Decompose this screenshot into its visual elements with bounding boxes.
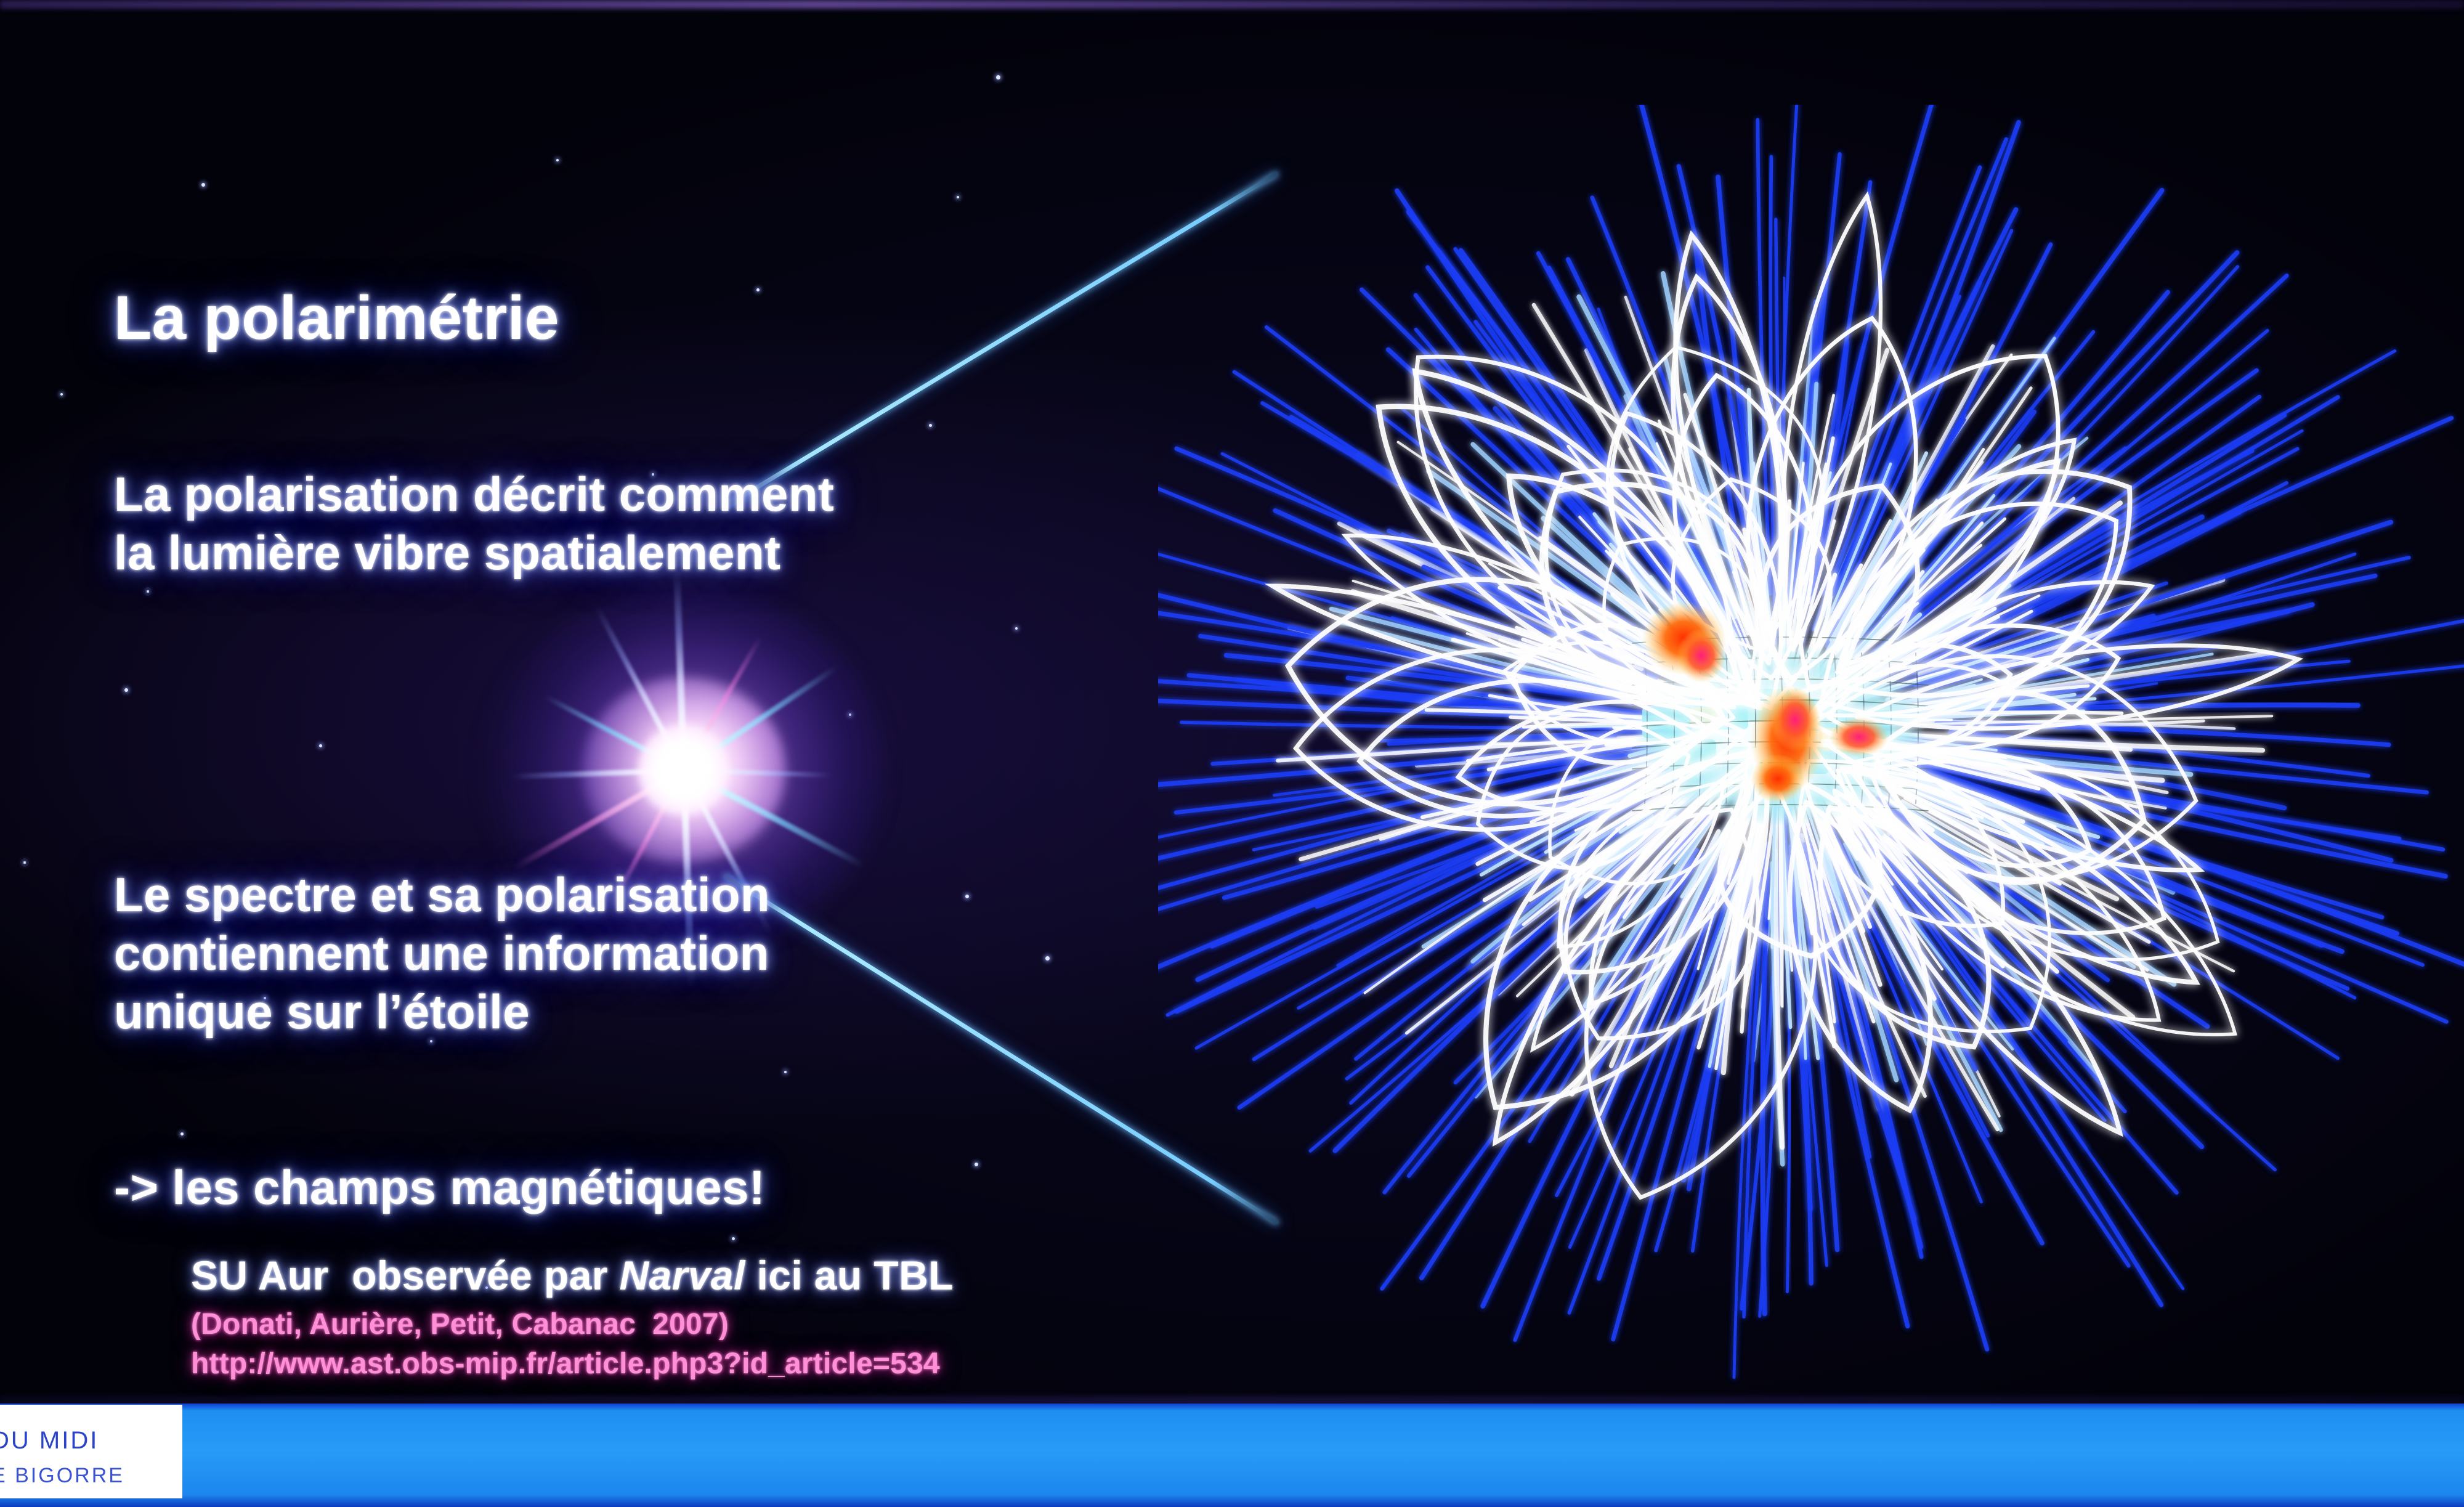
star-point [60, 393, 63, 396]
magnetic-hotspot [1751, 754, 1805, 803]
star-point [201, 183, 205, 187]
credit-url[interactable]: http://www.ast.obs-mip.fr/article.php3?i… [191, 1347, 940, 1381]
star-point [975, 1163, 978, 1166]
credit-reference: (Donati, Aurière, Petit, Cabanac 2007) [191, 1307, 729, 1341]
caption-text-after: ici au TBL [745, 1253, 954, 1298]
magnetic-hotspot [1830, 717, 1889, 757]
figure-caption: SU Aur observée par Narval ici au TBL [191, 1251, 954, 1301]
star-point [1045, 956, 1050, 961]
paragraph-spectrum-information: Le spectre et sa polarisation contiennen… [114, 866, 770, 1041]
star-core [638, 725, 729, 816]
magnetic-hotspot [1770, 688, 1820, 752]
presentation-slide: La polarimétrie La polarisation décrit c… [0, 0, 2464, 1507]
star-point [1015, 627, 1018, 630]
magnetic-hotspot [1677, 628, 1726, 683]
logo-line-1: DU MIDI [0, 1427, 99, 1455]
star-point [732, 1237, 735, 1240]
field-line [1780, 810, 1783, 1005]
paragraph-polarisation-definition: La polarisation décrit comment la lumièr… [114, 465, 834, 582]
star-point [556, 159, 559, 161]
star-point [756, 288, 760, 291]
paragraph-magnetic-fields: -> les champs magnétiques! [114, 1158, 765, 1217]
page-title: La polarimétrie [114, 280, 559, 355]
logo-line-2: E BIGORRE [0, 1464, 124, 1488]
star-point [784, 1071, 787, 1073]
pic-du-midi-logo: DU MIDI E BIGORRE [0, 1405, 182, 1498]
star-point [929, 424, 932, 427]
magnetic-field-figure [1158, 105, 2464, 1386]
star-point [180, 1132, 184, 1135]
star-point [147, 590, 149, 593]
footer-blue-bar [0, 1403, 2464, 1507]
caption-text-before: SU Aur observée par [191, 1253, 620, 1298]
projector-bottom-sheen [0, 1397, 2464, 1403]
star-point [996, 75, 1000, 79]
star-point [957, 196, 959, 198]
magnetic-field-svg [1158, 105, 2464, 1386]
star-point [124, 688, 128, 692]
star-point [319, 744, 322, 747]
projector-top-sheen [0, 0, 2464, 9]
caption-instrument-name: Narval [620, 1253, 745, 1298]
star-point [965, 895, 969, 898]
star-point [23, 861, 26, 864]
